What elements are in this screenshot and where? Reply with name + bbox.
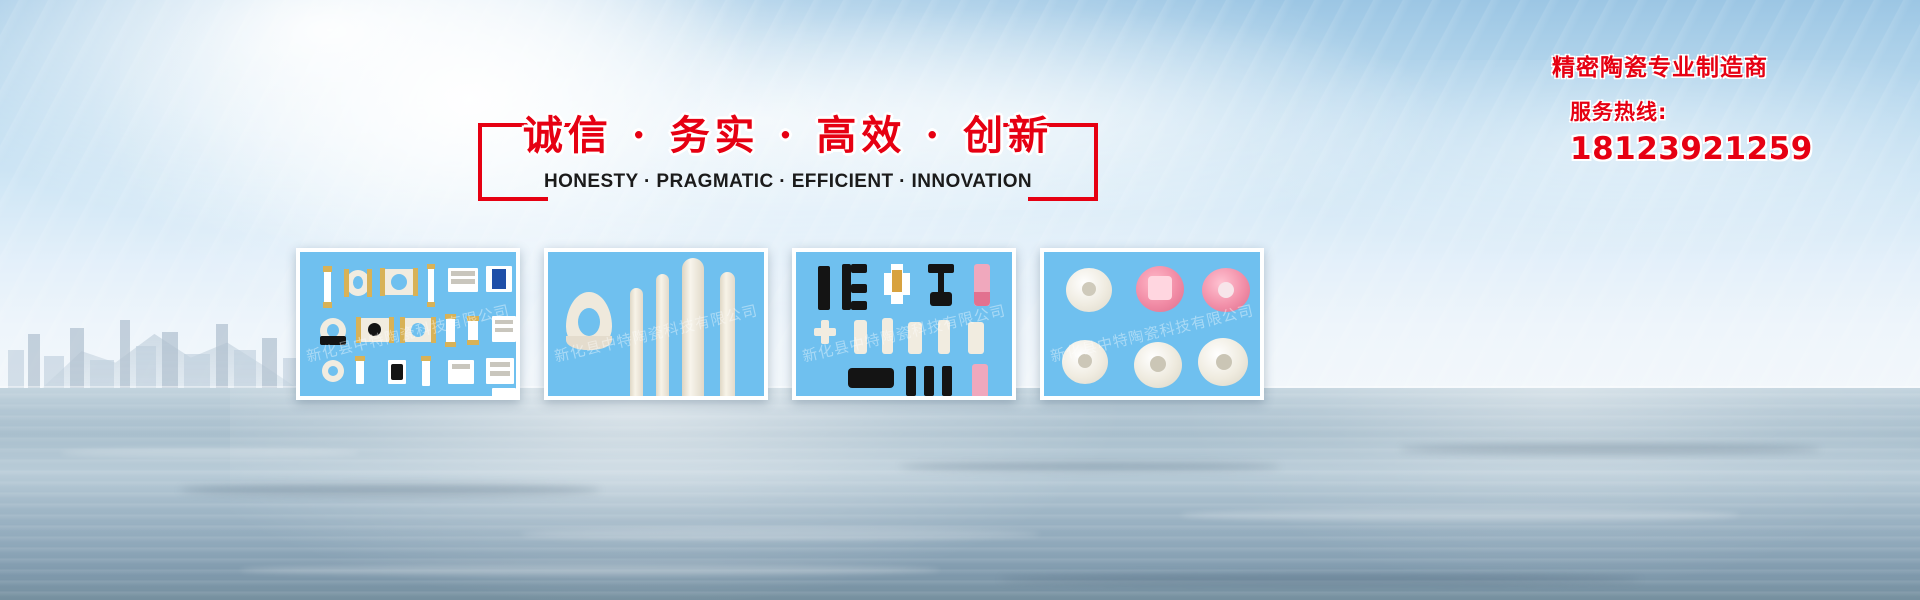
contact-block: 精密陶瓷专业制造商 服务热线: 18123921259 <box>1552 52 1912 168</box>
building <box>70 328 84 390</box>
building <box>262 338 277 390</box>
hotline-number[interactable]: 18123921259 <box>1570 130 1912 168</box>
water-streak <box>900 462 1280 471</box>
slogan-block: 诚信 · 务实 · 高效 · 创新 HONESTY · PRAGMATIC · … <box>478 108 1098 208</box>
hotline-label: 服务热线: <box>1570 98 1912 126</box>
panel-3-products <box>796 252 1012 396</box>
panel-2-products <box>548 252 764 396</box>
product-panel-3[interactable]: 新化县中特陶瓷科技有限公司 <box>792 248 1016 400</box>
water-streak <box>60 448 360 458</box>
company-tagline: 精密陶瓷专业制造商 <box>1552 52 1912 84</box>
building <box>216 324 228 390</box>
ground-highlight-right <box>1180 388 1920 588</box>
bracket-bottom-right-horizontal <box>1028 197 1098 201</box>
building <box>234 350 256 390</box>
slogan-chinese: 诚信 · 务实 · 高效 · 创新 <box>478 108 1098 164</box>
product-panel-4[interactable]: 新化县中特陶瓷科技有限公司 <box>1040 248 1264 400</box>
building <box>8 350 24 390</box>
panel-4-products <box>1044 252 1260 396</box>
building <box>28 334 40 390</box>
building <box>184 354 210 390</box>
product-panel-2[interactable]: 新化县中特陶瓷科技有限公司 <box>544 248 768 400</box>
building <box>136 346 156 390</box>
water-streak <box>1000 574 1640 585</box>
building <box>162 332 178 390</box>
building <box>120 320 130 390</box>
water-streak <box>520 528 1040 540</box>
slogan-english: HONESTY · PRAGMATIC · EFFICIENT · INNOVA… <box>478 171 1098 193</box>
product-panel-1[interactable]: 新化县中特陶瓷科技有限公司 <box>296 248 520 400</box>
wet-ground-reflection <box>0 388 1920 600</box>
bracket-bottom-left-horizontal <box>478 197 548 201</box>
building <box>44 356 64 390</box>
hero-banner: 诚信 · 务实 · 高效 · 创新 HONESTY · PRAGMATIC · … <box>0 0 1920 600</box>
water-streak <box>180 484 600 496</box>
water-streak <box>240 564 940 576</box>
panel-1-products <box>300 252 516 396</box>
water-streak <box>1400 444 1820 454</box>
product-panel-row: 新化县中特陶瓷科技有限公司 新化县中特陶瓷科技有限公司 <box>296 248 1264 400</box>
water-streak <box>1180 508 1740 522</box>
